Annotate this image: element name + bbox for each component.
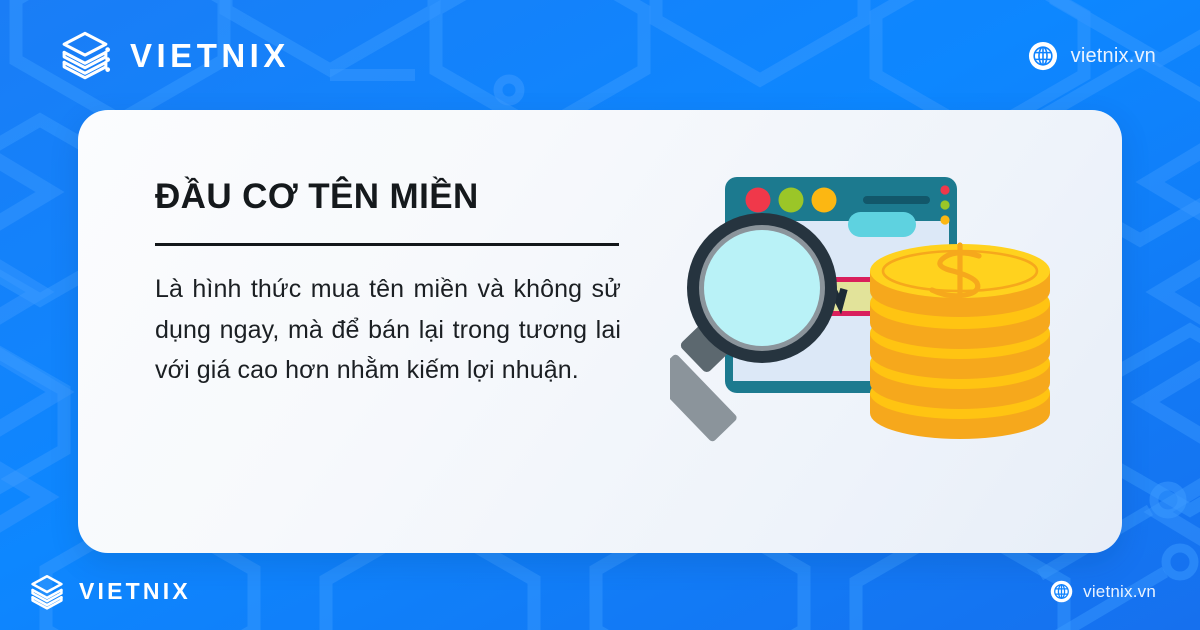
banner-canvas: VIETNIX vietnix.vn ĐẦU CƠ TÊN MIỀN Là h <box>0 0 1200 630</box>
site-url-text: vietnix.vn <box>1083 582 1156 602</box>
magnifying-glass-graphic <box>670 213 837 443</box>
title-divider <box>155 243 619 246</box>
content-card: ĐẦU CƠ TÊN MIỀN Là hình thức mua tên miề… <box>78 110 1122 553</box>
page-title: ĐẦU CƠ TÊN MIỀN <box>155 177 621 216</box>
vietnix-stacked-layers-icon <box>56 27 114 85</box>
footer-site-link[interactable]: vietnix.vn <box>1050 580 1156 603</box>
footer-bar: VIETNIX vietnix.vn <box>0 553 1200 630</box>
header-brand[interactable]: VIETNIX <box>56 27 290 85</box>
brand-name: VIETNIX <box>130 37 290 75</box>
card-body-text: Là hình thức mua tên miền và không sử dụ… <box>155 269 621 391</box>
header-bar: VIETNIX vietnix.vn <box>0 0 1200 112</box>
gold-coin-stack-graphic <box>870 244 1050 439</box>
header-site-link[interactable]: vietnix.vn <box>1028 41 1156 71</box>
domain-search-illustration <box>670 155 1070 495</box>
footer-brand[interactable]: VIETNIX <box>26 571 191 613</box>
vietnix-stacked-layers-icon <box>26 571 68 613</box>
globe-icon <box>1050 580 1073 603</box>
brand-name: VIETNIX <box>79 578 191 605</box>
site-url-text: vietnix.vn <box>1071 45 1156 68</box>
globe-icon <box>1028 41 1058 71</box>
card-text-block: ĐẦU CƠ TÊN MIỀN Là hình thức mua tên miề… <box>155 177 621 391</box>
